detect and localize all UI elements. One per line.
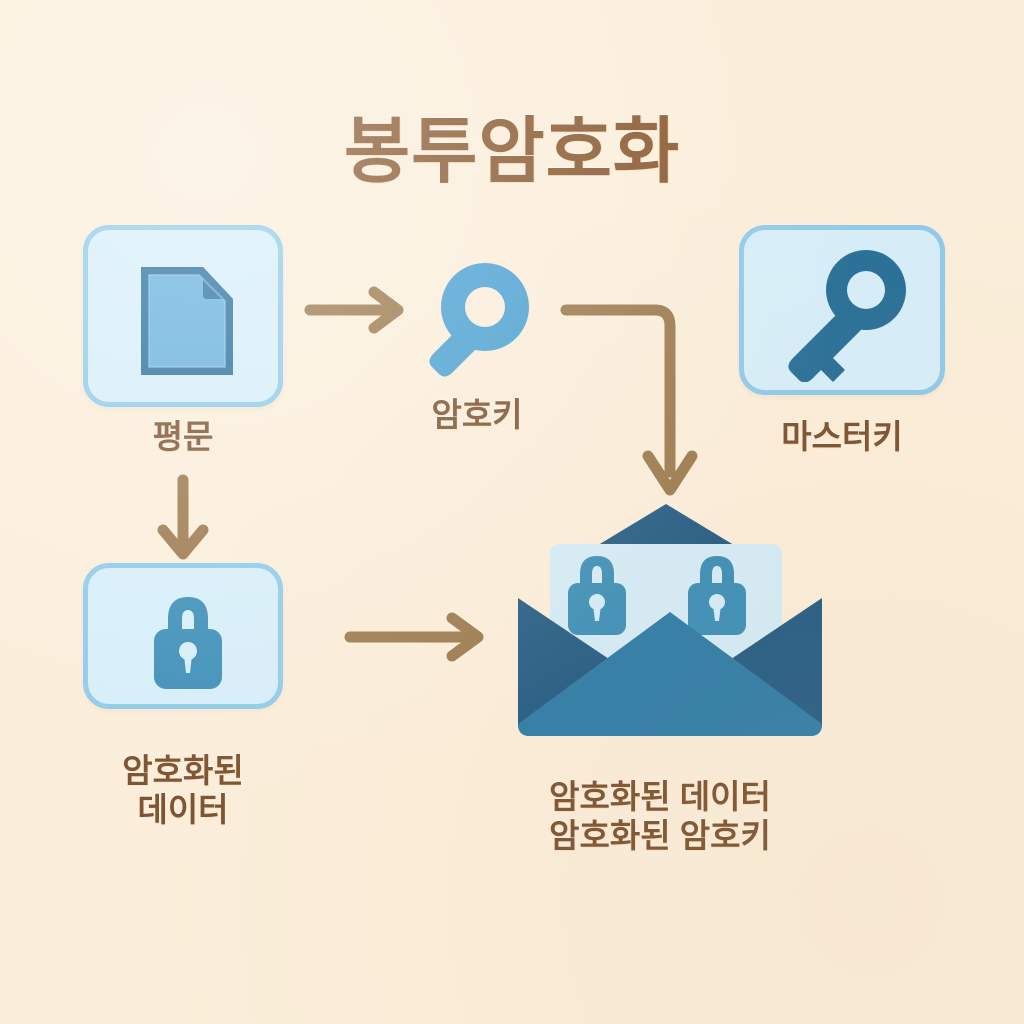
- label-encryption-key: 암호키: [372, 396, 582, 435]
- master-key-icon: [771, 248, 917, 382]
- arrow-encryption-key-to-envelope: [566, 310, 692, 490]
- document-icon: [133, 257, 241, 385]
- label-envelope-output: 암호화된 데이터 암호화된 암호키: [460, 778, 860, 856]
- padlock-icon: [142, 585, 234, 697]
- card-master-key: [739, 225, 945, 395]
- card-plaintext: [83, 225, 283, 407]
- arrow-plaintext-to-encrypted-data: [163, 480, 203, 554]
- label-plaintext: 평문: [83, 418, 283, 457]
- small-key-icon: [412, 262, 534, 380]
- arrow-encrypted-data-to-envelope: [350, 618, 478, 656]
- envelope-with-two-padlocks-icon: [510, 500, 822, 744]
- label-master-key: 마스터키: [739, 418, 945, 457]
- diagram-canvas: 봉투암호화 평문 암호키 마스터키: [0, 0, 1024, 1024]
- page-title: 봉투암호화: [0, 92, 1024, 197]
- card-encrypted-data: [83, 563, 283, 709]
- arrow-plaintext-to-encryption-key: [310, 292, 398, 328]
- label-encrypted-data: 암호화된 데이터: [43, 752, 323, 830]
